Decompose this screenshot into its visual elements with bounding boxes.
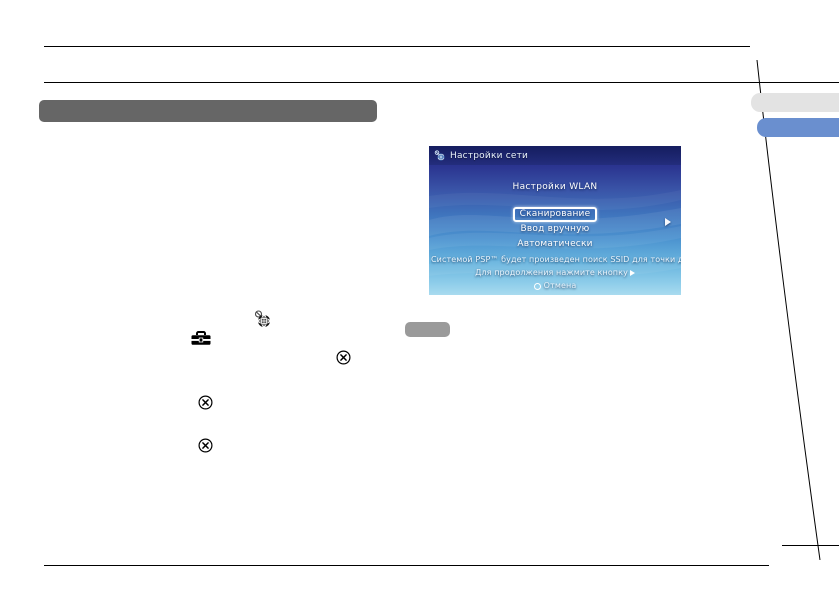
psp-footer-hint-line2: Для продолжения нажмите кнопку bbox=[429, 267, 681, 279]
cross-button-icon bbox=[198, 395, 213, 410]
network-globe-icon bbox=[434, 150, 445, 161]
header-rule-bottom bbox=[44, 82, 839, 83]
psp-menu: Сканирование Ввод вручную Автоматически bbox=[429, 207, 681, 252]
psp-menu-item-automatic[interactable]: Автоматически bbox=[429, 237, 681, 252]
psp-footer-hint-line2-text: Для продолжения нажмите кнопку bbox=[475, 268, 628, 277]
psp-menu-item-label: Ввод вручную bbox=[521, 224, 590, 234]
section-heading bbox=[39, 100, 377, 122]
psp-footer-hint-line1: Системой PSP™ будет произведен поиск SSI… bbox=[431, 254, 681, 266]
psp-title-text: Настройки сети bbox=[450, 151, 528, 161]
psp-menu-item-scan[interactable]: Сканирование bbox=[429, 207, 681, 222]
psp-footer-cancel[interactable]: Отмена bbox=[429, 280, 681, 292]
psp-titlebar: Настройки сети bbox=[429, 146, 681, 165]
circle-button-icon bbox=[534, 283, 541, 290]
footer-rule bbox=[44, 565, 769, 566]
psp-menu-item-label: Автоматически bbox=[517, 239, 592, 249]
chapter-tab-blue[interactable] bbox=[757, 118, 839, 137]
psp-screenshot: Настройки сети Настройки WLAN Сканирован… bbox=[429, 146, 681, 295]
toolbox-icon bbox=[189, 330, 213, 350]
chapter-tab-grey[interactable] bbox=[751, 93, 839, 112]
psp-footer: Системой PSP™ будет произведен поиск SSI… bbox=[429, 267, 681, 292]
manual-page: Настройки сети Настройки WLAN Сканирован… bbox=[0, 0, 839, 595]
psp-section-title: Настройки WLAN bbox=[429, 182, 681, 192]
globe-icon bbox=[252, 309, 272, 329]
psp-next-arrow-icon[interactable] bbox=[665, 218, 671, 226]
inline-redacted-chip bbox=[405, 322, 450, 337]
right-triangle-button-icon bbox=[630, 270, 635, 276]
cross-button-icon bbox=[198, 438, 213, 453]
psp-menu-item-manual[interactable]: Ввод вручную bbox=[429, 222, 681, 237]
cross-button-icon bbox=[336, 350, 351, 365]
psp-menu-item-label: Сканирование bbox=[520, 209, 591, 219]
psp-footer-cancel-label: Отмена bbox=[544, 280, 577, 292]
footer-rule-right bbox=[782, 545, 839, 546]
header-rule-top bbox=[44, 46, 750, 47]
